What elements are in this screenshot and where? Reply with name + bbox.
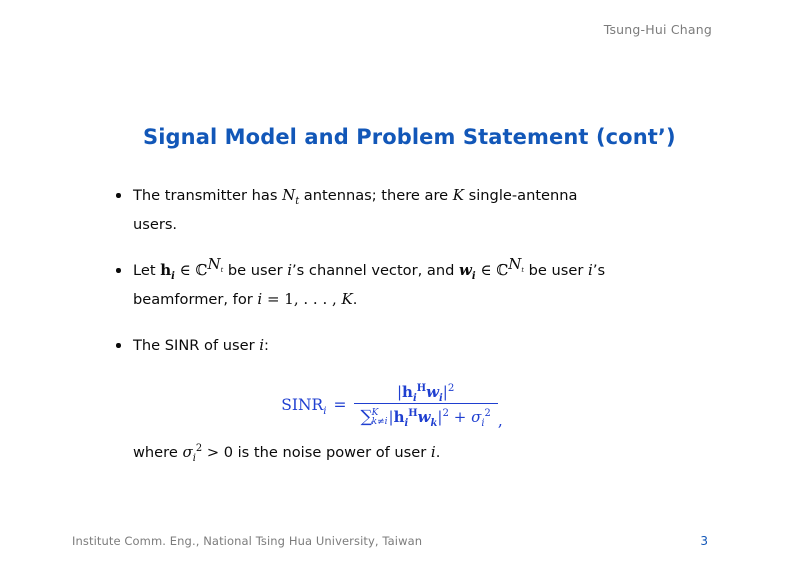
footer-page-number: 3 [700, 534, 708, 548]
den-sum-lower: k≠i [372, 418, 388, 427]
bullet2-line2-a: beamformer, for [133, 291, 257, 308]
slide-title: Signal Model and Problem Statement (cont… [143, 125, 676, 149]
symbol-w-vector: wi [459, 261, 476, 279]
bullet-text-line-1: The SINR of user i: [133, 331, 712, 360]
den-summation-symbol: ∑ [361, 407, 373, 427]
equation-denominator: ∑Kk≠i|hiHwk|2 + σi2 [354, 404, 498, 427]
symbol-C-exp-N-2: N [508, 255, 521, 273]
bullet-item-sinr-of-user: The SINR of user i: [112, 331, 712, 360]
bullet-text-line-2: users. [133, 210, 712, 239]
num-h-sup: H [417, 383, 426, 394]
num-h: h [402, 383, 413, 401]
bullet-marker-icon [116, 268, 121, 273]
bullet2-text-p2: be user [223, 262, 287, 279]
den-h-vector: hiH [394, 408, 418, 426]
den-sigma-symbol: σ [471, 408, 481, 426]
num-h-vector: hiH [402, 383, 426, 401]
symbol-element-of-1: ∈ [175, 261, 196, 279]
bullet-text-line-1: The transmitter has Nt antennas; there a… [133, 181, 712, 210]
symbol-h-vector: hi [160, 261, 175, 279]
symbol-K: K [453, 186, 464, 204]
bullet1-text-c: single-antenna [464, 187, 577, 204]
symbol-K-2: K [342, 290, 353, 308]
where-clause: where σi2 > 0 is the noise power of user… [112, 438, 712, 467]
symbol-C-exp-N-1: N [207, 255, 220, 273]
bullet-item-channel-beamformer: Let hi ∈ ℂNt be user i’s channel vector,… [112, 256, 712, 314]
bullet-marker-icon [116, 193, 121, 198]
bullet1-text-b: antennas; there are [299, 187, 453, 204]
where-text-p1: where [133, 444, 182, 461]
bullet-text-line-1: Let hi ∈ ℂNt be user i’s channel vector,… [133, 256, 712, 285]
equation-fraction: |hiHwi|2 ∑Kk≠i|hiHwk|2 + σi2 [354, 383, 498, 427]
symbol-C-1: ℂ [196, 261, 208, 279]
bullet2-text-p4: be user [524, 262, 588, 279]
symbol-N: N [282, 186, 295, 204]
bullet3-text-p1: The SINR of user [133, 337, 259, 354]
den-h-sub: i [405, 418, 409, 429]
den-w-vector: wk [418, 408, 438, 426]
bullet2-text-p5: ’s [593, 262, 605, 279]
bullet-item-transmitter-antennas: The transmitter has Nt antennas; there a… [112, 181, 712, 239]
equation-equals-sign: = [334, 396, 347, 414]
bullet1-text-a: The transmitter has [133, 187, 282, 204]
symbol-complex-field-1: ℂNt [196, 261, 224, 279]
bullet-text-line-2: beamformer, for i = 1, . . . , K. [133, 285, 712, 314]
den-h: h [394, 408, 405, 426]
den-plus: + [449, 408, 471, 426]
den-sigma-sub: i [481, 418, 484, 429]
footer-affiliation: Institute Comm. Eng., National Tsing Hua… [72, 534, 422, 548]
equation-trailing-comma: , [498, 412, 503, 436]
equation-lhs-label: SINR [281, 396, 323, 414]
num-power: 2 [448, 383, 455, 394]
symbol-C-2: ℂ [496, 261, 508, 279]
bullet-marker-icon [116, 343, 121, 348]
slide-header-author: Tsung-Hui Chang [604, 22, 712, 37]
symbol-element-of-2: ∈ [476, 261, 497, 279]
where-sigma-sub: i [193, 453, 196, 464]
symbol-complex-field-2: ℂNt [496, 261, 524, 279]
den-sigma: σi2 [471, 408, 491, 426]
bullet2-line2-c: . [353, 291, 358, 308]
symbol-Nt: Nt [282, 186, 299, 204]
equation-lhs-subscript: i [323, 406, 326, 417]
where-text-p2: > 0 is the noise power of user [202, 444, 431, 461]
where-sigma-symbol: σ [182, 443, 192, 461]
bullet2-text-p1: Let [133, 262, 160, 279]
bullet2-text-p3: ’s channel vector, and [292, 262, 459, 279]
den-sigma-sup: 2 [485, 408, 491, 419]
symbol-h: h [160, 261, 171, 279]
symbol-C-exponent-1: Nt [207, 261, 223, 272]
bullet3-text-p2: : [264, 337, 269, 354]
den-w: w [418, 408, 431, 426]
equation-numerator: |hiHwi|2 [390, 383, 461, 403]
den-plus-sign: + [454, 408, 467, 426]
where-sigma: σi2 [182, 443, 202, 461]
where-text-p3: . [436, 444, 441, 461]
equation-lhs: SINRi [281, 396, 326, 414]
num-w-vector: wi [426, 383, 443, 401]
den-summation-limits: Kk≠i [372, 409, 388, 427]
symbol-w: w [459, 261, 472, 279]
den-h-sup: H [408, 408, 417, 419]
bullet2-line2-b: = 1, . . . , [262, 290, 341, 308]
num-w: w [426, 383, 439, 401]
slide-body: The transmitter has Nt antennas; there a… [112, 181, 712, 467]
symbol-C-exponent-2: Nt [508, 261, 524, 272]
sinr-equation: SINRi = |hiHwi|2 ∑Kk≠i|hiHwk|2 + σi2 , [112, 374, 712, 436]
